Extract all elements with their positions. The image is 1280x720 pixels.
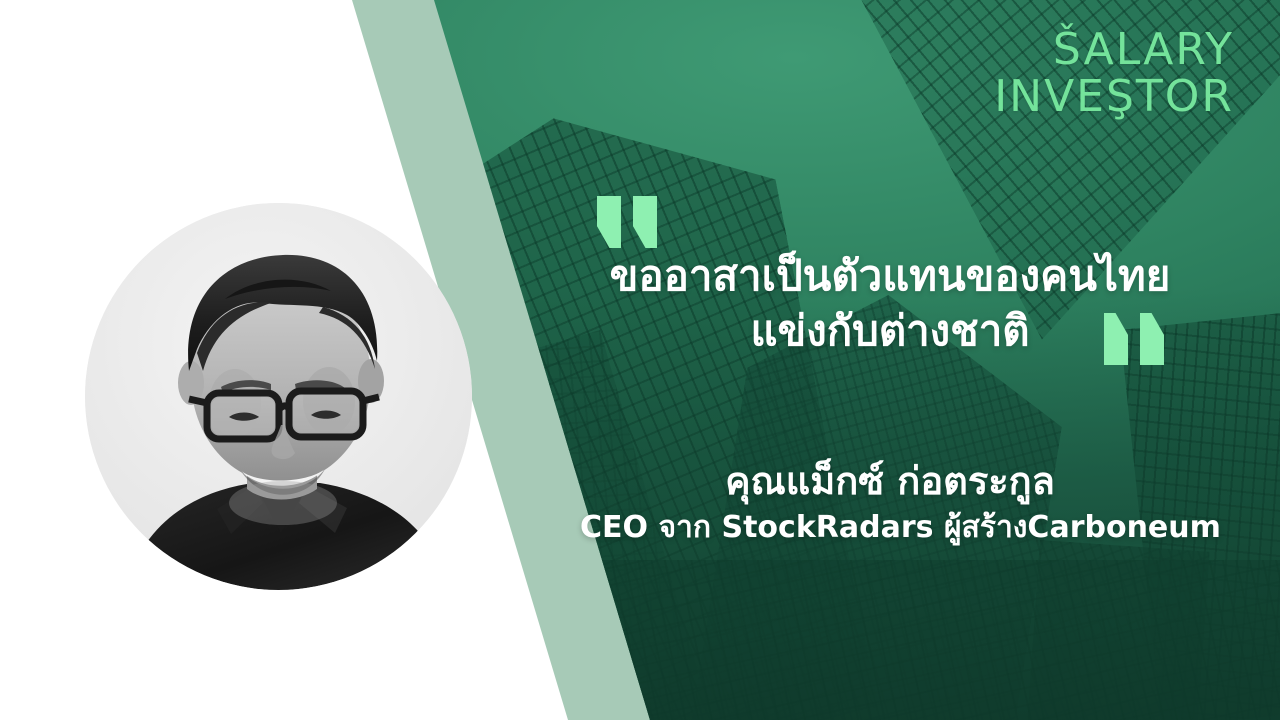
- tower-shape-small-right: [1026, 540, 1210, 720]
- avatar: [85, 203, 472, 590]
- tower-shape-foreground: [560, 560, 1280, 720]
- brand-logo-line2: INVEŞTOR: [994, 75, 1234, 118]
- quote-open-glyph-2: [633, 196, 657, 248]
- brand-logo-line1: ŠALARY: [994, 28, 1234, 71]
- attribution: คุณแม็กซ์ ก่อตระกูล CEO จาก StockRadars …: [580, 458, 1200, 548]
- quote-line-1: ขออาสาเป็นตัวแทนของคนไทย: [580, 248, 1200, 303]
- quote-text: ขออาสาเป็นตัวแทนของคนไทย แข่งกับต่างชาติ: [580, 248, 1200, 359]
- speaker-name: คุณแม็กซ์ ก่อตระกูล: [580, 458, 1200, 506]
- portrait-photo-icon: [85, 203, 472, 590]
- quote-open-icon: [597, 196, 669, 248]
- brand-logo: ŠALARY INVEŞTOR: [994, 28, 1234, 118]
- quote-card: ŠALARY INVEŞTOR ขออาสาเป็นตัวแทนของคนไทย…: [0, 0, 1280, 720]
- speaker-role: CEO จาก StockRadars ผู้สร้างCarboneum: [580, 508, 1200, 549]
- quote-open-glyph-1: [597, 196, 621, 248]
- quote-line-2: แข่งกับต่างชาติ: [580, 303, 1200, 358]
